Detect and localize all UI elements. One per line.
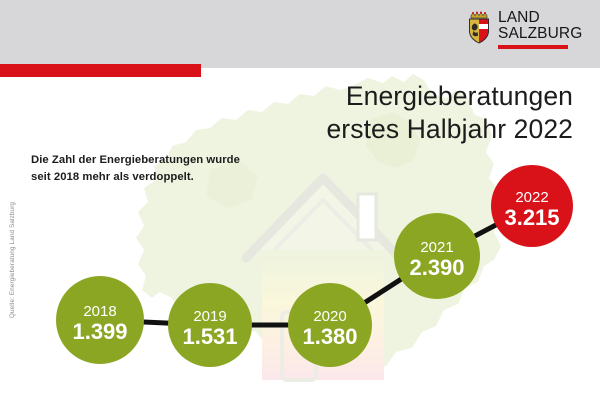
bubble-year-2021: 2021 — [420, 239, 453, 256]
bubble-year-2020: 2020 — [313, 308, 346, 325]
data-point-2018[interactable]: 20181.399 — [56, 276, 144, 364]
bubble-value-2018: 1.399 — [72, 319, 127, 344]
infographic-root: LAND SALZBURG Energieberatungen erstes H… — [0, 0, 600, 400]
bubble-value-2022: 3.215 — [504, 205, 559, 230]
bubble-value-2021: 2.390 — [409, 255, 464, 280]
data-point-2021[interactable]: 20212.390 — [394, 213, 480, 299]
data-point-2022[interactable]: 20223.215 — [491, 165, 573, 247]
chart-data-points: 20181.39920191.53120201.38020212.3902022… — [56, 165, 573, 367]
data-point-2019[interactable]: 20191.531 — [168, 283, 252, 367]
bubble-value-2020: 1.380 — [302, 324, 357, 349]
bubble-year-2018: 2018 — [83, 303, 116, 320]
bubble-year-2022: 2022 — [515, 189, 548, 206]
data-point-2020[interactable]: 20201.380 — [288, 283, 372, 367]
line-chart: 20181.39920191.53120201.38020212.3902022… — [0, 0, 600, 400]
bubble-value-2019: 1.531 — [182, 324, 237, 349]
bubble-year-2019: 2019 — [193, 308, 226, 325]
